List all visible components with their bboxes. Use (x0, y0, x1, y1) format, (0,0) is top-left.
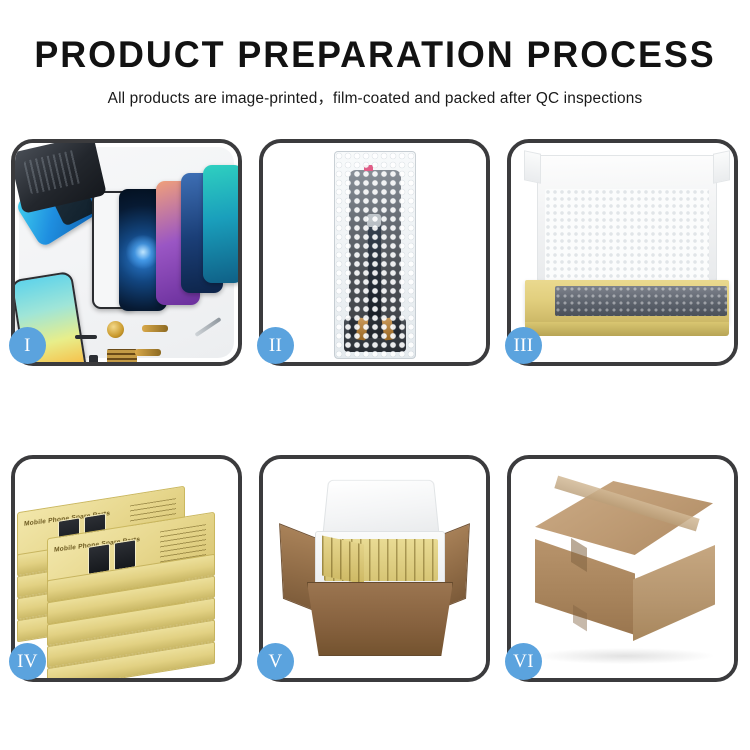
step-image-1 (15, 143, 238, 362)
step-image-4: Mobile Phone Spare Parts Mobile Phone Sp… (15, 459, 238, 678)
part-chip (89, 355, 98, 362)
inner-box-tray-front (525, 322, 729, 336)
part-flex-cable-2 (135, 349, 161, 356)
page-title: PRODUCT PREPARATION PROCESS (11, 36, 739, 75)
step-badge-5: V (257, 643, 294, 680)
step-badge-1: I (9, 327, 46, 364)
step-panel-6: VI (507, 455, 738, 682)
inner-box-foam-sheet (545, 189, 709, 281)
inner-box-yellow-tray (525, 280, 729, 324)
bubble-wrap-bag (334, 151, 416, 359)
step-panel-1: I (11, 139, 242, 366)
product-preparation-infographic: PRODUCT PREPARATION PROCESS All products… (0, 0, 750, 750)
inner-box-lid-flap-left (524, 150, 541, 184)
part-mesh-grid (107, 349, 137, 362)
part-speaker-gold (107, 321, 124, 338)
step-panel-3: III (507, 139, 738, 366)
step-badge-6: VI (505, 643, 542, 680)
carton-shadow (537, 648, 713, 664)
phone-screens-collage (15, 143, 238, 362)
header: PRODUCT PREPARATION PROCESS All products… (0, 0, 750, 108)
part-tweezers (194, 317, 221, 337)
page-subtitle: All products are image-printed，film-coat… (0, 86, 750, 108)
process-steps-grid: I II (11, 139, 739, 682)
step-image-3 (511, 143, 734, 362)
inner-box-bubble-contents (555, 286, 727, 316)
step-image-2 (263, 143, 486, 362)
step-badge-2: II (257, 327, 294, 364)
foam-box-body (315, 531, 445, 587)
bubble-texture (335, 152, 415, 358)
step-badge-4: IV (9, 643, 46, 680)
sealed-carton-right-face (633, 545, 715, 641)
part-strip (75, 335, 97, 339)
part-flex-cable (142, 325, 168, 332)
inner-box-lid-flap-right (713, 150, 730, 184)
phone-screen-teal (203, 165, 238, 283)
shipping-carton-open (307, 582, 453, 656)
step-panel-5: V (259, 455, 490, 682)
step-panel-4: Mobile Phone Spare Parts Mobile Phone Sp… (11, 455, 242, 682)
step-panel-2: II (259, 139, 490, 366)
step-image-5 (263, 459, 486, 678)
step-badge-3: III (505, 327, 542, 364)
step-image-6 (511, 459, 734, 678)
